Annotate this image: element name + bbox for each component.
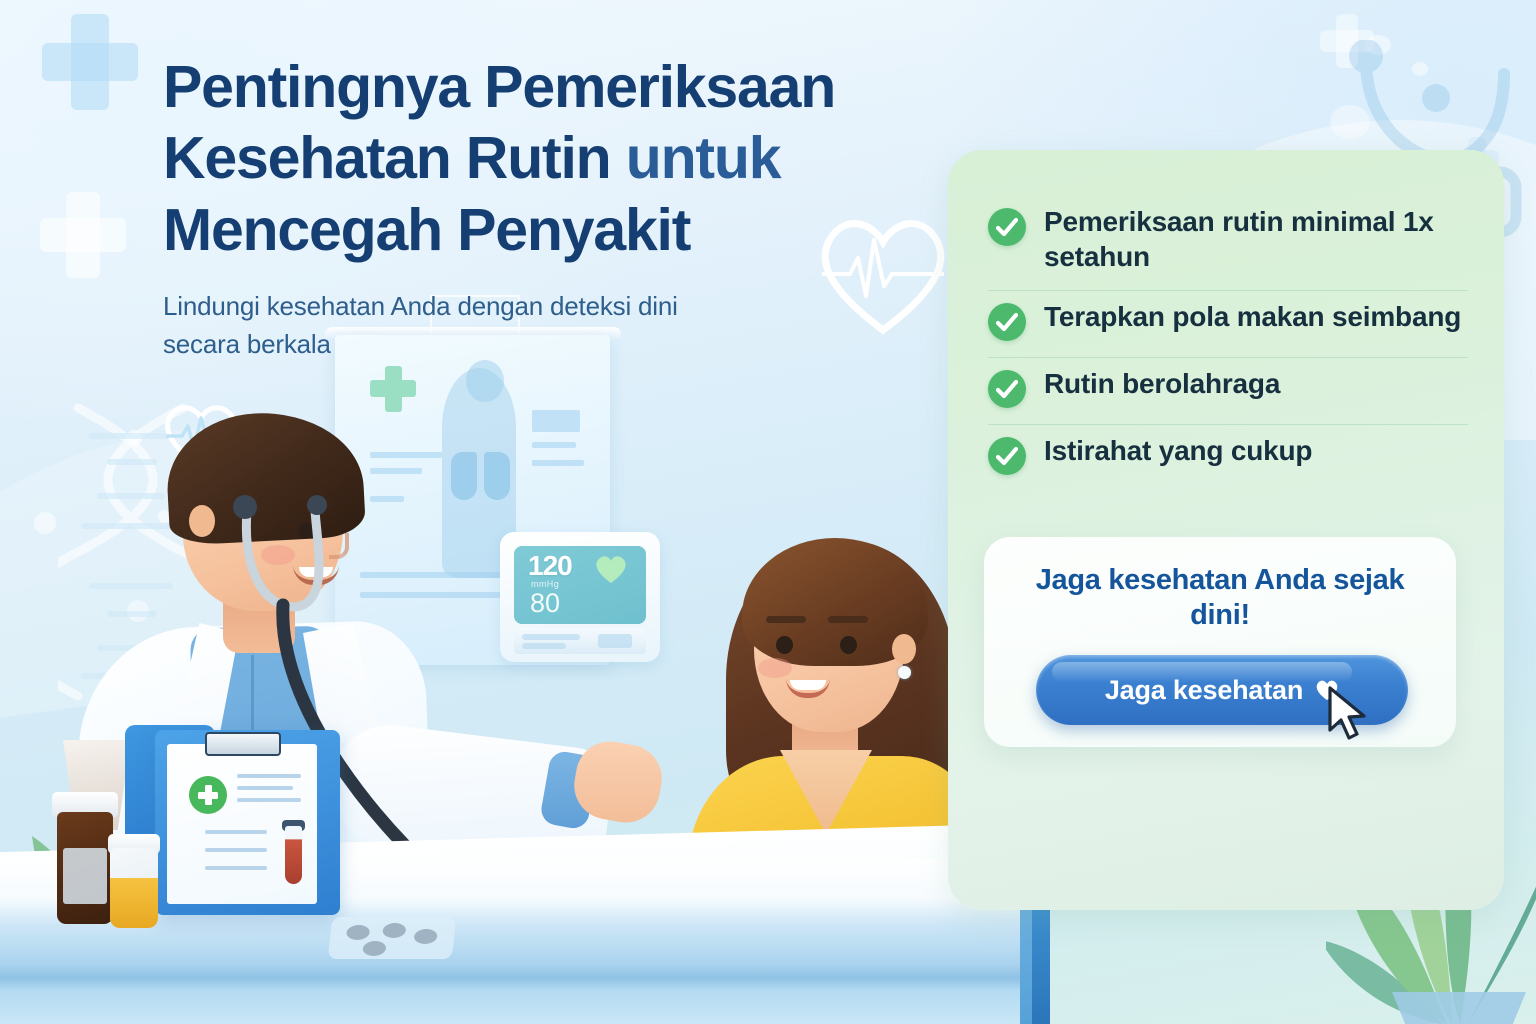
checklist-item[interactable]: Terapkan pola makan seimbang: [988, 291, 1468, 358]
decorative-blob: [1412, 62, 1428, 76]
test-tube-icon: [285, 826, 302, 884]
page-subtitle: Lindungi kesehatan Anda dengan deteksi d…: [163, 288, 683, 364]
check-circle-icon: [988, 208, 1026, 246]
check-circle-icon: [988, 370, 1026, 408]
check-circle-icon: [988, 437, 1026, 475]
heart-icon: [594, 554, 628, 584]
decorative-blob: [1330, 105, 1370, 139]
checklist-item-label: Rutin berolahraga: [1044, 367, 1280, 402]
health-checkup-poster: 120 mmHg 80: [0, 0, 1536, 1024]
cta-card: Jaga kesehatan Anda sejak dini! Jaga kes…: [984, 537, 1456, 747]
clipboard: [155, 730, 340, 915]
headline-line-1: Pentingnya Pemeriksaan: [163, 54, 835, 120]
earring: [898, 666, 911, 679]
medical-cross-icon: [1320, 30, 1374, 52]
patient-eyebrow: [766, 616, 806, 623]
bottle-label: [63, 848, 107, 904]
clipboard-clip: [205, 732, 281, 756]
pill-bottle-fill: [110, 878, 158, 928]
systolic-value: 120: [528, 550, 572, 582]
poster-text-line: [532, 410, 580, 432]
doctor-ear: [189, 505, 215, 537]
poster-text-line: [532, 460, 584, 466]
headline-line-3: Mencegah Penyakit: [163, 197, 690, 263]
page-title: Pentingnya Pemeriksaan Kesehatan Rutin u…: [163, 52, 993, 266]
checklist-item[interactable]: Istirahat yang cukup: [988, 425, 1468, 491]
diastolic-value: 80: [530, 588, 560, 619]
patient-ear: [892, 634, 916, 664]
checklist: Pemeriksaan rutin minimal 1x setahun Ter…: [988, 196, 1468, 491]
cta-title: Jaga kesehatan Anda sejak dini!: [1008, 563, 1432, 634]
checklist-item-label: Terapkan pola makan seimbang: [1044, 300, 1461, 335]
clipboard-page: [167, 744, 317, 904]
patient-eye: [840, 636, 857, 654]
pill-blister-pack: [328, 917, 456, 959]
medical-cross-icon: [42, 43, 138, 81]
title-block: Pentingnya Pemeriksaan Kesehatan Rutin u…: [163, 52, 993, 364]
headline-line-2-light: untuk: [611, 125, 781, 191]
poster-text-line: [532, 442, 576, 448]
checklist-item[interactable]: Pemeriksaan rutin minimal 1x setahun: [988, 196, 1468, 291]
cursor-arrow-icon: [1324, 685, 1372, 743]
medical-cross-icon: [189, 776, 227, 814]
checklist-item-label: Istirahat yang cukup: [1044, 434, 1312, 469]
patient-eyebrow: [828, 616, 868, 623]
checklist-item[interactable]: Rutin berolahraga: [988, 358, 1468, 425]
checklist-item-label: Pemeriksaan rutin minimal 1x setahun: [1044, 205, 1464, 274]
check-circle-icon: [988, 303, 1026, 341]
button-gloss: [1052, 662, 1352, 682]
checklist-panel: Pemeriksaan rutin minimal 1x setahun Ter…: [948, 150, 1504, 910]
monitor-keypad: [514, 628, 646, 654]
decorative-blob: [1365, 35, 1391, 55]
clinic-illustration: 120 mmHg 80: [0, 300, 1010, 1024]
monitor-screen: 120 mmHg 80: [514, 546, 646, 624]
medical-cross-icon: [40, 218, 126, 252]
headline-line-2-strong: Kesehatan Rutin: [163, 125, 611, 191]
patient-teeth: [790, 680, 826, 690]
patient-eye: [776, 636, 793, 654]
patient-cheek: [758, 658, 792, 678]
